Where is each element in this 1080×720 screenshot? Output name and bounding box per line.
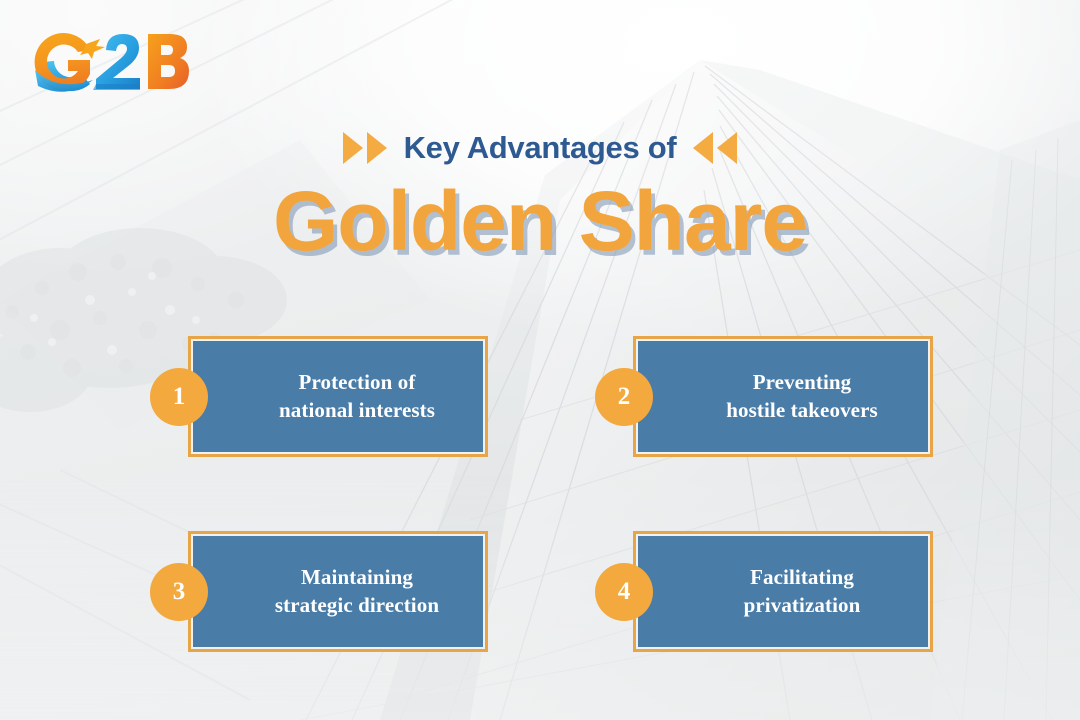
card-line-1: Maintaining [301,564,413,592]
infographic-slide: Key Advantages of Golden Share 1 Protect… [0,0,1080,720]
advantage-card-2[interactable]: 2 Preventing hostile takeovers [633,336,933,457]
card-label-4: Facilitating privatization [636,534,930,649]
card-line-1: Protection of [299,369,416,397]
g2b-logo[interactable] [28,22,203,98]
double-chevron-right-icon [343,132,387,164]
kicker-row: Key Advantages of [0,124,1080,172]
kicker-text: Key Advantages of [404,130,677,166]
card-line-2: privatization [744,592,861,620]
advantage-card-4[interactable]: 4 Facilitating privatization [633,531,933,652]
headline-block: Key Advantages of Golden Share [0,124,1080,267]
double-chevron-left-icon [693,132,737,164]
card-label-1: Protection of national interests [191,339,485,454]
page-title: Golden Share [0,176,1080,267]
card-label-3: Maintaining strategic direction [191,534,485,649]
card-label-2: Preventing hostile takeovers [636,339,930,454]
card-line-1: Preventing [753,369,852,397]
card-line-1: Facilitating [750,564,854,592]
advantage-card-1[interactable]: 1 Protection of national interests [188,336,488,457]
card-line-2: national interests [279,397,435,425]
advantage-card-3[interactable]: 3 Maintaining strategic direction [188,531,488,652]
card-line-2: hostile takeovers [726,397,878,425]
card-line-2: strategic direction [275,592,439,620]
